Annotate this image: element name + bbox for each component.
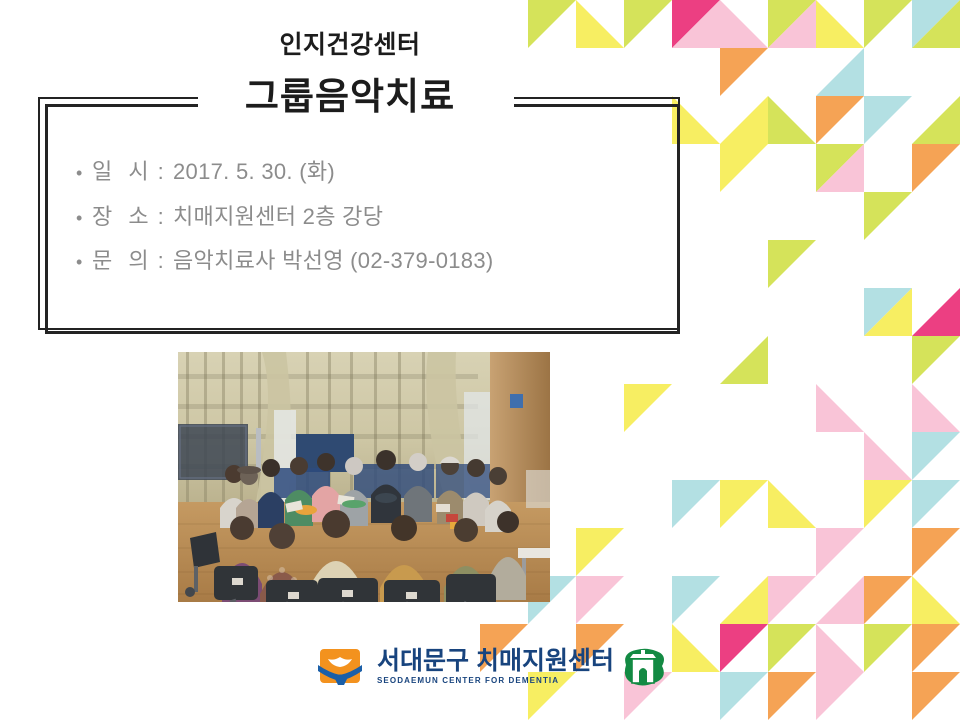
- list-item: • 장 소 : 치매지원센터 2층 강당: [76, 203, 666, 231]
- decorative-triangle: [864, 576, 912, 624]
- decorative-triangle: [768, 672, 816, 720]
- dongnimmun-gate-icon: [620, 645, 666, 689]
- detail-separator: :: [154, 247, 173, 275]
- bullet-point-icon: •: [76, 251, 92, 274]
- decorative-triangle: [912, 288, 960, 336]
- decorative-triangle: [720, 480, 768, 528]
- decorative-triangle: [576, 528, 624, 576]
- detail-label-contact: 문 의: [92, 247, 154, 275]
- decorative-triangle: [720, 576, 768, 624]
- decorative-triangle: [768, 480, 816, 528]
- decorative-triangle: [912, 576, 960, 624]
- decorative-triangle: [576, 576, 624, 624]
- decorative-triangle: [624, 384, 672, 432]
- decorative-triangle: [816, 384, 864, 432]
- decorative-triangle: [720, 0, 768, 48]
- decorative-triangle: [864, 288, 912, 336]
- decorative-triangle: [864, 0, 912, 48]
- decorative-triangle: [816, 144, 864, 192]
- presentation-slide: 인지건강센터 그룹음악치료 • 일 시 : 2017. 5. 30. (화) •…: [0, 0, 960, 720]
- decorative-triangle: [912, 528, 960, 576]
- event-details-list: • 일 시 : 2017. 5. 30. (화) • 장 소 : 치매지원센터 …: [76, 158, 666, 292]
- detail-label-location: 장 소: [92, 203, 154, 231]
- detail-label-date: 일 시: [92, 158, 154, 186]
- decorative-triangle: [912, 144, 960, 192]
- decorative-triangle: [768, 624, 816, 672]
- bullet-point-icon: •: [76, 162, 92, 185]
- decorative-triangle: [816, 48, 864, 96]
- list-item: • 일 시 : 2017. 5. 30. (화): [76, 158, 666, 186]
- decorative-triangle: [816, 528, 864, 576]
- detail-value-contact: 음악치료사 박선영 (02-379-0183): [173, 247, 493, 275]
- detail-separator: :: [154, 158, 173, 186]
- decorative-triangle: [912, 384, 960, 432]
- logo-text-block: 서대문구 치매지원센터 SEODAEMUN CENTER FOR DEMENTI…: [377, 648, 614, 686]
- decorative-triangle: [768, 0, 816, 48]
- decorative-triangle: [912, 480, 960, 528]
- decorative-triangle: [768, 96, 816, 144]
- decorative-triangle: [672, 624, 720, 672]
- decorative-triangle: [816, 144, 864, 192]
- decorative-triangle: [816, 624, 864, 672]
- decorative-triangle: [816, 576, 864, 624]
- decorative-triangle: [864, 480, 912, 528]
- decorative-triangle: [720, 624, 768, 672]
- decorative-triangle: [864, 288, 912, 336]
- decorative-triangle: [720, 96, 768, 144]
- logo-korean-name: 서대문구 치매지원센터: [377, 648, 614, 674]
- activity-photo: [178, 352, 550, 602]
- decorative-triangle: [720, 48, 768, 96]
- decorative-triangle: [912, 336, 960, 384]
- decorative-triangle: [912, 432, 960, 480]
- slide-title: 그룹음악치료: [0, 77, 700, 118]
- decorative-triangle: [912, 0, 960, 48]
- detail-separator: :: [154, 203, 173, 231]
- list-item: • 문 의 : 음악치료사 박선영 (02-379-0183): [76, 247, 666, 275]
- bullet-point-icon: •: [76, 207, 92, 230]
- decorative-triangle: [864, 192, 912, 240]
- decorative-triangle: [768, 240, 816, 288]
- decorative-triangle: [912, 0, 960, 48]
- seodaemun-gu-symbol-icon: [316, 647, 368, 687]
- decorative-triangle: [912, 96, 960, 144]
- decorative-triangle: [864, 624, 912, 672]
- decorative-triangle: [672, 480, 720, 528]
- organization-logo: 서대문구 치매지원센터 SEODAEMUN CENTER FOR DEMENTI…: [316, 643, 660, 691]
- decorative-triangle: [768, 0, 816, 48]
- decorative-triangle: [816, 96, 864, 144]
- decorative-triangle: [816, 672, 864, 720]
- slide-subtitle: 인지건강센터: [0, 32, 700, 60]
- logo-english-name: SEODAEMUN CENTER FOR DEMENTIA: [377, 676, 614, 686]
- decorative-triangle: [864, 432, 912, 480]
- decorative-triangle: [816, 0, 864, 48]
- decorative-triangle: [672, 576, 720, 624]
- decorative-triangle: [720, 336, 768, 384]
- decorative-triangle: [720, 144, 768, 192]
- decorative-triangle: [912, 624, 960, 672]
- detail-value-location: 치매지원센터 2층 강당: [173, 203, 383, 231]
- decorative-triangle: [720, 672, 768, 720]
- decorative-triangle: [864, 96, 912, 144]
- detail-value-date: 2017. 5. 30. (화): [173, 158, 335, 186]
- decorative-triangle: [912, 672, 960, 720]
- decorative-triangle: [768, 576, 816, 624]
